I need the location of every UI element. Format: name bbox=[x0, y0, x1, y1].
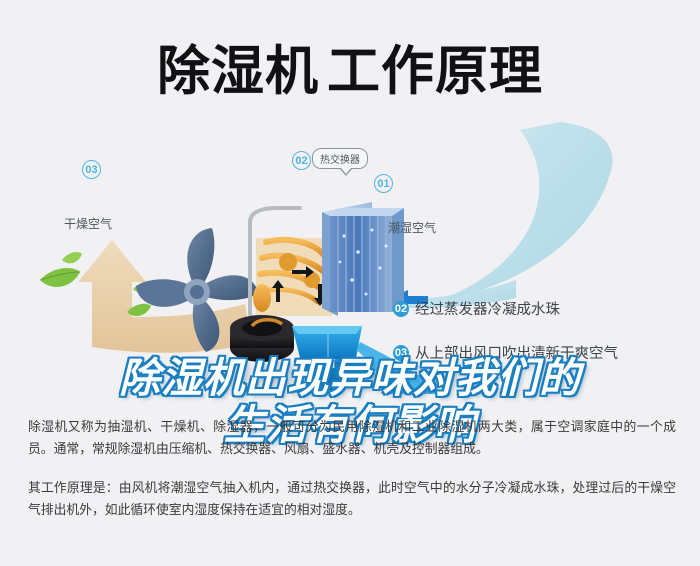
page-title-part2: 工作原理 bbox=[327, 42, 543, 101]
step-text-02: 经过蒸发器冷凝成水珠 bbox=[415, 298, 560, 319]
page-root: 除湿机工作原理 bbox=[0, 0, 700, 566]
step-line-02: 02 经过蒸发器冷凝成水珠 bbox=[393, 298, 560, 319]
article-paragraph-2: 其工作原理是：由风机将潮湿空气抽入机内，通过热交换器，此时空气中的水分子冷凝成水… bbox=[28, 477, 676, 521]
badge-step-03: 03 bbox=[393, 345, 409, 361]
step-text-03: 从上部出风口吹出清新干爽空气 bbox=[415, 342, 618, 363]
step-line-03: 03 从上部出风口吹出清新干爽空气 bbox=[393, 342, 618, 363]
page-title-part1: 除湿机 bbox=[157, 42, 319, 101]
dehumidifier-diagram: 03 干燥空气 02 热交换器 01 潮湿空气 水箱 02 经过蒸发器冷凝成水珠… bbox=[0, 112, 700, 402]
step-list: 02 经过蒸发器冷凝成水珠 03 从上部出风口吹出清新干爽空气 bbox=[0, 112, 700, 402]
article-paragraph-1: 除湿机又称为抽湿机、干燥机、除湿器，一般可分为民用除湿机和工业除湿机两大类，属于… bbox=[28, 416, 676, 460]
article-body: 除湿机又称为抽湿机、干燥机、除湿器，一般可分为民用除湿机和工业除湿机两大类，属于… bbox=[28, 416, 676, 521]
badge-step-02: 02 bbox=[393, 301, 409, 317]
page-title: 除湿机工作原理 bbox=[157, 45, 543, 98]
header-banner: 除湿机工作原理 bbox=[0, 32, 700, 110]
